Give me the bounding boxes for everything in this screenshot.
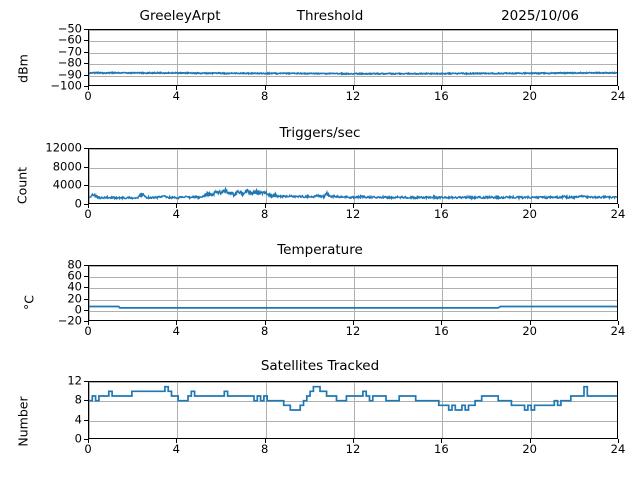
panel-triggers-axes (88, 148, 618, 204)
panel-satellites-xticklabels: 0 4 8 12 16 20 24 (0, 439, 640, 457)
panel-temperature-xticklabels: 0 4 8 12 16 20 24 (0, 321, 640, 339)
header-metric: Threshold (297, 8, 364, 25)
panel-triggers-title: Triggers/sec (0, 125, 640, 141)
header-site: GreeleyArpt (139, 8, 220, 25)
panel-threshold-axes (88, 29, 618, 86)
panel-triggers-trace (89, 149, 617, 203)
panel-satellites-axes (88, 381, 618, 439)
panel-satellites-trace (89, 382, 617, 438)
panel-temperature-axes (88, 265, 618, 321)
figure: GreeleyArpt Threshold 2025/10/06 dBm −50… (0, 0, 640, 480)
header-date: 2025/10/06 (501, 8, 579, 25)
panel-threshold: GreeleyArpt Threshold 2025/10/06 dBm −50… (0, 8, 640, 118)
panel-temperature-trace (89, 266, 617, 320)
panel-temperature: Temperature °C 80 60 40 20 0 −20 (0, 242, 640, 352)
panel-triggers-xticklabels: 0 4 8 12 16 20 24 (0, 204, 640, 222)
panel-triggers: Triggers/sec Count 12000 8000 4000 0 (0, 125, 640, 235)
panel-threshold-xticklabels: 0 4 8 12 16 20 24 (0, 86, 640, 104)
header-title-row: GreeleyArpt Threshold 2025/10/06 (0, 8, 640, 25)
panel-satellites: Satellites Tracked Number 12 8 4 0 (0, 358, 640, 473)
panel-satellites-title: Satellites Tracked (0, 358, 640, 374)
panel-temperature-title: Temperature (0, 242, 640, 258)
panel-threshold-trace (89, 30, 617, 85)
